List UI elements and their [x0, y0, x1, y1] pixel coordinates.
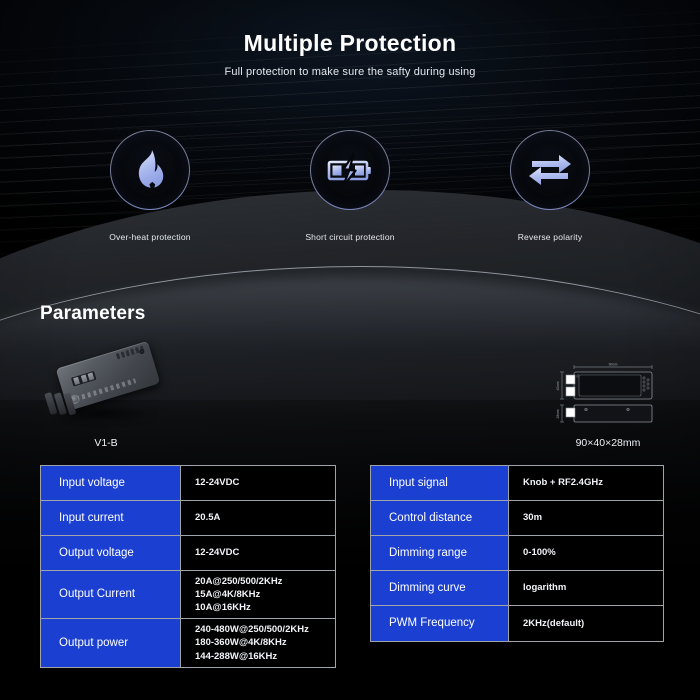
dim-height-text: 28mm	[556, 409, 560, 418]
protection-label: Short circuit protection	[260, 232, 440, 242]
protection-item-short-circuit: Short circuit protection	[260, 130, 440, 242]
spec-row: Input signalKnob + RF2.4GHz	[371, 466, 663, 501]
spec-key: Output Current	[41, 571, 181, 618]
spec-row: Dimming curvelogarithm	[371, 571, 663, 606]
spec-value: 2KHz(default)	[509, 606, 663, 641]
dim-width-text: 40mm	[556, 381, 560, 390]
spec-value: 12-24VDC	[181, 466, 335, 500]
spec-value: logarithm	[509, 571, 663, 605]
protection-feature-row: Over-heat protection	[60, 130, 640, 242]
spec-value: 0-100%	[509, 536, 663, 570]
icon-ring	[310, 130, 390, 210]
spec-value: 240-480W@250/500/2KHz 180-360W@4K/8KHz 1…	[181, 619, 335, 666]
spec-key: Dimming range	[371, 536, 509, 570]
spec-row: Dimming range0-100%	[371, 536, 663, 571]
spec-value: 30m	[509, 501, 663, 535]
spec-key: Input current	[41, 501, 181, 535]
spec-row: Input voltage12-24VDC	[41, 466, 335, 501]
battery-bolt-icon	[325, 150, 375, 190]
flame-icon	[130, 148, 170, 192]
product-image	[44, 344, 168, 430]
spec-row: Control distance30m	[371, 501, 663, 536]
icon-ring	[510, 130, 590, 210]
spec-row: Output power240-480W@250/500/2KHz 180-36…	[41, 619, 335, 666]
spec-key: Input voltage	[41, 466, 181, 500]
page-subtitle: Full protection to make sure the safty d…	[0, 66, 700, 78]
mounting-hole	[139, 348, 145, 354]
spec-value: 12-24VDC	[181, 536, 335, 570]
spec-key: Output power	[41, 619, 181, 666]
spec-value: 20.5A	[181, 501, 335, 535]
dimension-drawing: 90mm 40mm 28mm	[548, 362, 668, 426]
dim-length-text: 90mm	[609, 363, 618, 367]
spec-key: Output voltage	[41, 536, 181, 570]
protection-label: Reverse polarity	[460, 232, 640, 242]
spec-row: Output Current20A@250/500/2KHz 15A@4K/8K…	[41, 571, 335, 619]
spec-row: PWM Frequency2KHz(default)	[371, 606, 663, 641]
spec-key: Dimming curve	[371, 571, 509, 605]
swap-arrows-icon	[526, 150, 574, 190]
spec-row: Input current20.5A	[41, 501, 335, 536]
spec-value: 20A@250/500/2KHz 15A@4K/8KHz 10A@16KHz	[181, 571, 335, 618]
page-title: Multiple Protection	[0, 30, 700, 57]
spec-value: Knob + RF2.4GHz	[509, 466, 663, 500]
protection-item-over-heat: Over-heat protection	[60, 130, 240, 242]
section-title-parameters: Parameters	[40, 303, 146, 325]
spec-key: PWM Frequency	[371, 606, 509, 641]
protection-item-reverse-polarity: Reverse polarity	[460, 130, 640, 242]
spec-row: Output voltage12-24VDC	[41, 536, 335, 571]
protection-label: Over-heat protection	[60, 232, 240, 242]
spec-key: Control distance	[371, 501, 509, 535]
icon-ring	[110, 130, 190, 210]
header: Multiple Protection Full protection to m…	[0, 30, 700, 78]
spec-table-left: Input voltage12-24VDCInput current20.5AO…	[40, 465, 336, 668]
product-model-label: V1-B	[44, 437, 168, 449]
spec-table-right: Input signalKnob + RF2.4GHzControl dista…	[370, 465, 664, 642]
dimensions-label: 90×40×28mm	[544, 437, 672, 449]
spec-key: Input signal	[371, 466, 509, 500]
promo-page: Multiple Protection Full protection to m…	[0, 0, 700, 700]
